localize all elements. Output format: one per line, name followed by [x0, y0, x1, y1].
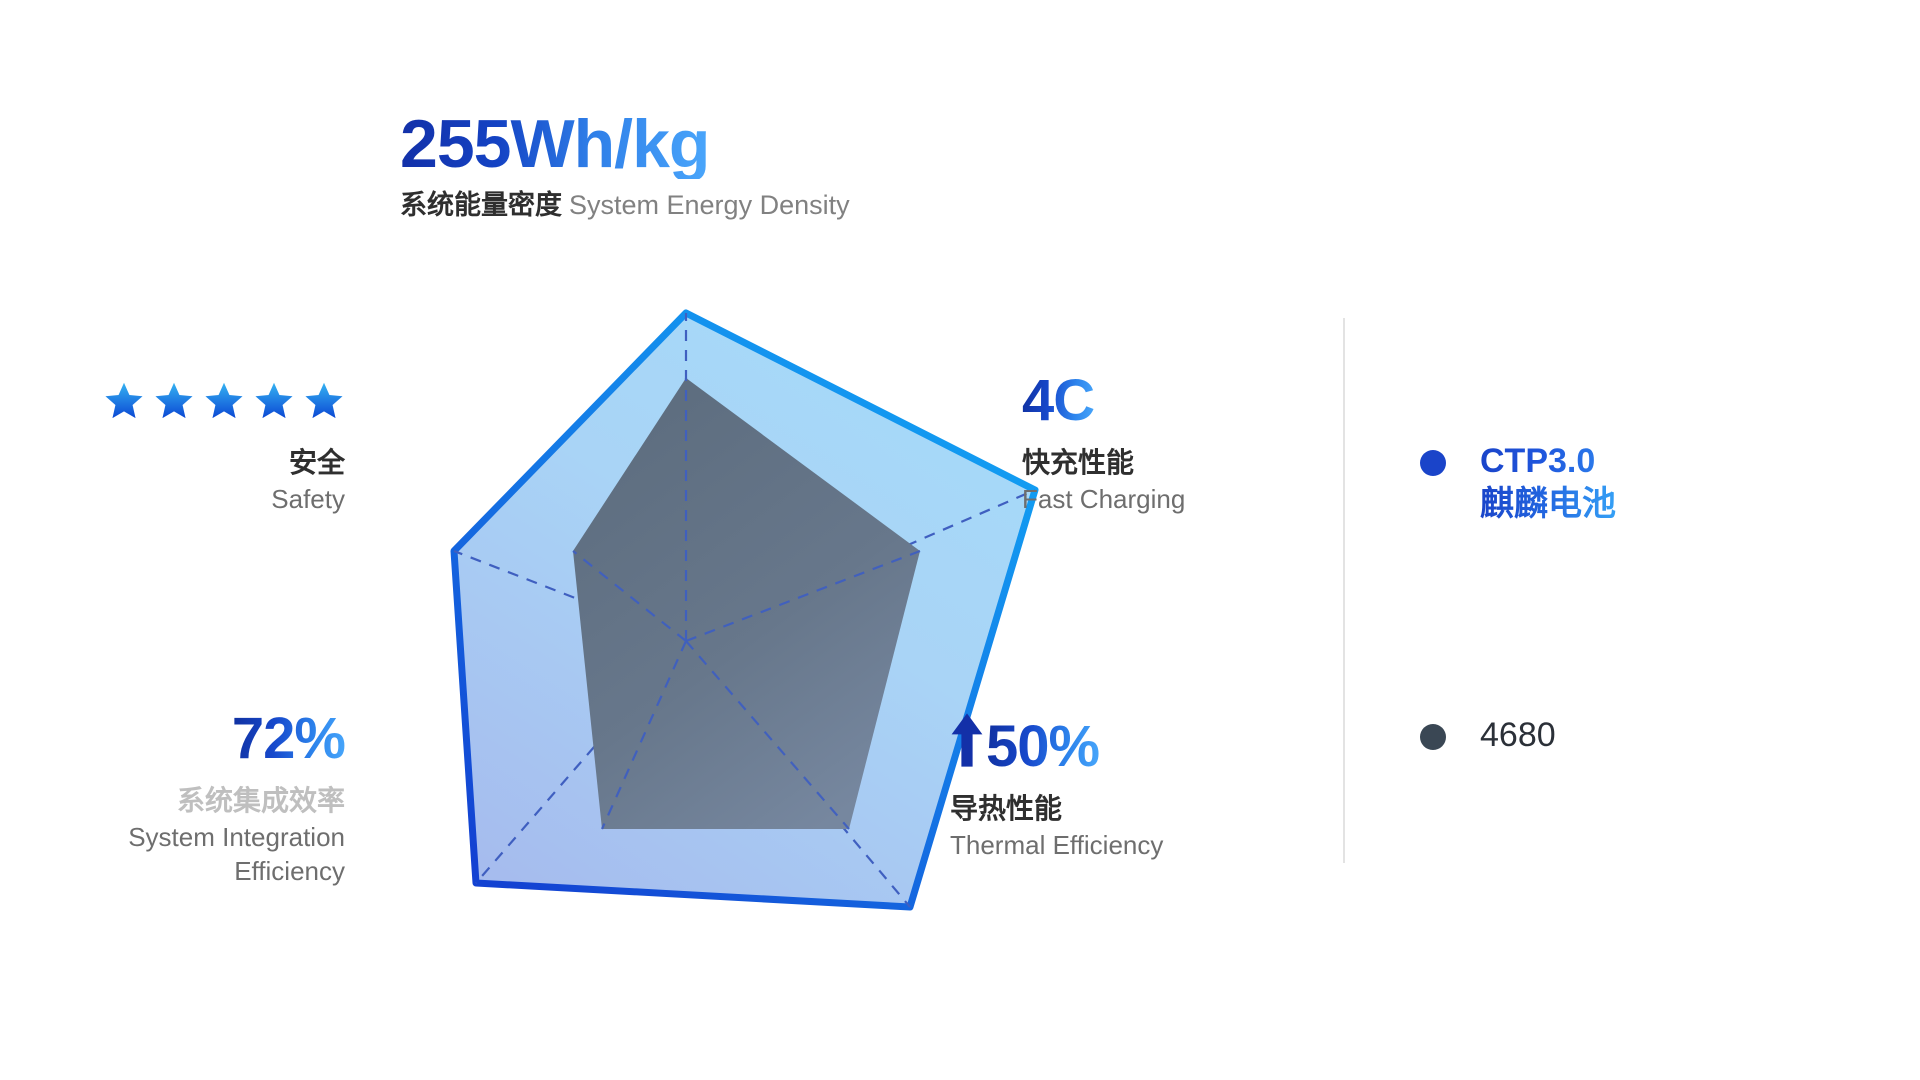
metric-fast-charging-label-en: Fast Charging	[1022, 482, 1442, 516]
legend: CTP3.0 麒麟电池 4680	[1420, 440, 1840, 756]
metric-system-integration-label-en-line1: System Integration	[0, 820, 345, 854]
metric-safety-label-cn: 安全	[0, 444, 345, 482]
safety-star-rating	[0, 380, 345, 422]
star-icon	[303, 380, 345, 422]
headline-subtitle: 系统能量密度System Energy Density	[400, 189, 1160, 221]
star-icon	[103, 380, 145, 422]
star-icon	[153, 380, 195, 422]
metric-thermal-value-row: 50%	[950, 712, 1380, 776]
metric-thermal-label-cn: 导热性能	[950, 790, 1380, 828]
metric-thermal-value: 50%	[986, 718, 1099, 776]
headline-label-cn: 系统能量密度	[400, 190, 562, 220]
legend-label-4680: 4680	[1480, 714, 1556, 757]
metric-system-integration-label-en-line2: Efficiency	[0, 854, 345, 888]
arrow-up-icon	[950, 712, 984, 768]
metric-fast-charging: 4C 快充性能 Fast Charging	[1022, 372, 1442, 516]
metric-fast-charging-value: 4C	[1022, 372, 1094, 430]
legend-label-ctp30-line1: CTP3.0	[1480, 440, 1616, 483]
metric-thermal-efficiency: 50% 导热性能 Thermal Efficiency	[950, 712, 1380, 862]
infographic-root: 255Wh/kg 系统能量密度System Energy Density	[0, 0, 1920, 1080]
legend-item-4680[interactable]: 4680	[1420, 714, 1840, 757]
headline-label-en: System Energy Density	[569, 190, 850, 220]
metric-system-integration-label-cn: 系统集成效率	[0, 782, 345, 820]
legend-label-4680-line1: 4680	[1480, 714, 1556, 757]
metric-system-integration-efficiency: 72% 系统集成效率 System Integration Efficiency	[0, 710, 430, 888]
legend-label-ctp30-line2: 麒麟电池	[1480, 483, 1616, 526]
metric-safety-label-en: Safety	[0, 482, 345, 516]
legend-item-ctp30[interactable]: CTP3.0 麒麟电池	[1420, 440, 1840, 526]
metric-system-integration-value: 72%	[232, 710, 345, 768]
legend-dot-icon	[1420, 450, 1446, 476]
metric-thermal-label-en: Thermal Efficiency	[950, 828, 1380, 862]
star-icon	[253, 380, 295, 422]
headline-value: 255Wh/kg	[400, 110, 709, 179]
headline-block: 255Wh/kg 系统能量密度System Energy Density	[400, 110, 1160, 222]
legend-label-ctp30: CTP3.0 麒麟电池	[1480, 440, 1616, 526]
metric-fast-charging-label-cn: 快充性能	[1022, 444, 1442, 482]
star-icon	[203, 380, 245, 422]
legend-divider	[1343, 318, 1345, 863]
metric-safety: 安全 Safety	[0, 380, 430, 516]
legend-dot-icon	[1420, 724, 1446, 750]
